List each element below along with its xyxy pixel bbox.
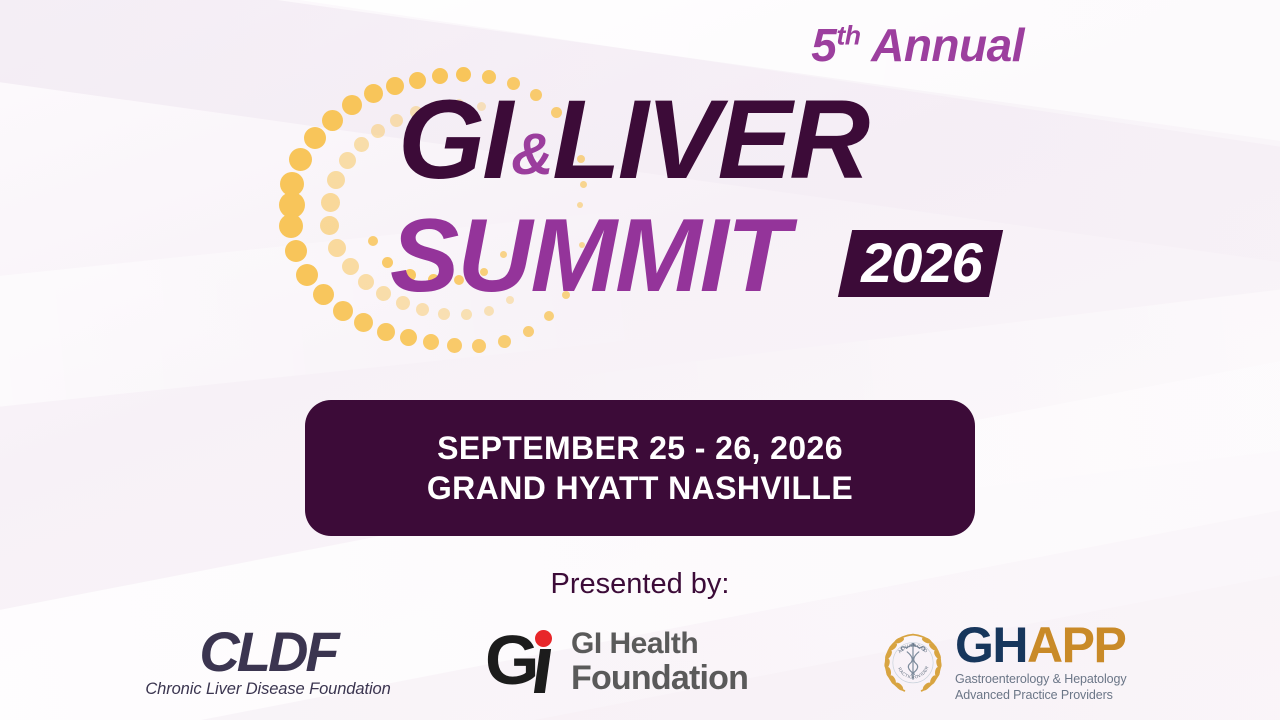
spiral-dot bbox=[368, 236, 378, 246]
title-gi: GI bbox=[398, 77, 510, 202]
sponsor-logo-ghapp[interactable]: ADVANCED PRACTICE PROVIDERS GHAPP Gastro… bbox=[877, 622, 1137, 703]
spiral-dot bbox=[376, 286, 391, 301]
spiral-dot bbox=[285, 240, 307, 262]
spiral-dot bbox=[523, 326, 534, 337]
ghapp-laurel-caduceus-emblem-icon: ADVANCED PRACTICE PROVIDERS bbox=[877, 626, 949, 698]
edition-word: Annual bbox=[871, 19, 1024, 71]
event-banner: 5th Annual GI&LIVER SUMMIT 2026 SEPTEMBE… bbox=[0, 0, 1280, 720]
spiral-dot bbox=[364, 84, 383, 103]
gihf-line-two: Foundation bbox=[571, 661, 748, 695]
spiral-dot bbox=[313, 284, 334, 305]
spiral-dot bbox=[400, 329, 417, 346]
spiral-dot bbox=[279, 214, 303, 238]
spiral-dot bbox=[423, 334, 439, 350]
gihf-wordmark: GI Health Foundation bbox=[571, 629, 748, 695]
cldf-wordmark: CLDF bbox=[143, 625, 393, 678]
edition-label: 5th Annual bbox=[811, 22, 1024, 68]
presented-by-label: Presented by: bbox=[0, 568, 1280, 601]
spiral-dot bbox=[339, 152, 356, 169]
spiral-dot bbox=[354, 313, 373, 332]
year-badge-text: 2026 bbox=[861, 234, 982, 292]
cldf-subtitle: Chronic Liver Disease Foundation bbox=[143, 680, 393, 699]
spiral-dot bbox=[280, 172, 304, 196]
sponsor-logo-cldf[interactable]: CLDF Chronic Liver Disease Foundation bbox=[143, 625, 393, 699]
ghapp-mark-app: APP bbox=[1027, 617, 1125, 673]
title-line-one: GI&LIVER bbox=[398, 84, 867, 196]
ghapp-mark-gh: GH bbox=[955, 617, 1027, 673]
year-badge: 2026 bbox=[838, 230, 1003, 297]
spiral-dot bbox=[333, 301, 353, 321]
ghapp-mark: GHAPP bbox=[955, 622, 1127, 668]
spiral-dot bbox=[354, 137, 369, 152]
date-venue-banner: SEPTEMBER 25 - 26, 2026 GRAND HYATT NASH… bbox=[305, 400, 975, 536]
spiral-dot bbox=[296, 264, 318, 286]
spiral-dot bbox=[342, 258, 359, 275]
spiral-dot bbox=[304, 127, 326, 149]
sponsor-logos-row: CLDF Chronic Liver Disease Foundation G … bbox=[0, 612, 1280, 712]
ghapp-subtitle: Gastroenterology & Hepatology Advanced P… bbox=[955, 671, 1127, 703]
title-liver: LIVER bbox=[552, 77, 867, 202]
spiral-dot bbox=[327, 171, 345, 189]
spiral-dot bbox=[320, 216, 339, 235]
spiral-dot bbox=[447, 338, 462, 353]
ghapp-subtitle-line-two: Advanced Practice Providers bbox=[955, 687, 1127, 703]
spiral-dot bbox=[322, 110, 343, 131]
spiral-dot bbox=[472, 339, 486, 353]
spiral-dot bbox=[328, 239, 346, 257]
event-date: SEPTEMBER 25 - 26, 2026 bbox=[437, 430, 843, 467]
spiral-dot bbox=[321, 193, 340, 212]
title-ampersand: & bbox=[510, 122, 552, 187]
gihf-line-one: GI Health bbox=[571, 629, 748, 659]
ghapp-wordmark: GHAPP Gastroenterology & Hepatology Adva… bbox=[955, 622, 1127, 703]
sponsor-logo-gi-health-foundation[interactable]: G GI Health Foundation bbox=[485, 629, 785, 695]
spiral-dot bbox=[498, 335, 511, 348]
event-logo: 5th Annual GI&LIVER SUMMIT 2026 bbox=[390, 22, 1030, 322]
edition-number: 5 bbox=[811, 19, 836, 71]
gihf-red-dot-icon bbox=[535, 630, 552, 647]
ghapp-subtitle-line-one: Gastroenterology & Hepatology bbox=[955, 671, 1127, 687]
spiral-dot bbox=[371, 124, 385, 138]
gihf-i-stem-icon bbox=[534, 649, 551, 693]
spiral-dot bbox=[289, 148, 312, 171]
gi-health-foundation-mark-icon: G bbox=[485, 629, 563, 695]
gihf-g-letter: G bbox=[485, 625, 535, 695]
edition-ordinal: th bbox=[836, 21, 860, 51]
spiral-dot bbox=[358, 274, 374, 290]
spiral-dot bbox=[342, 95, 362, 115]
title-line-two: SUMMIT bbox=[390, 204, 788, 308]
event-venue: GRAND HYATT NASHVILLE bbox=[427, 470, 853, 507]
spiral-dot bbox=[377, 323, 395, 341]
